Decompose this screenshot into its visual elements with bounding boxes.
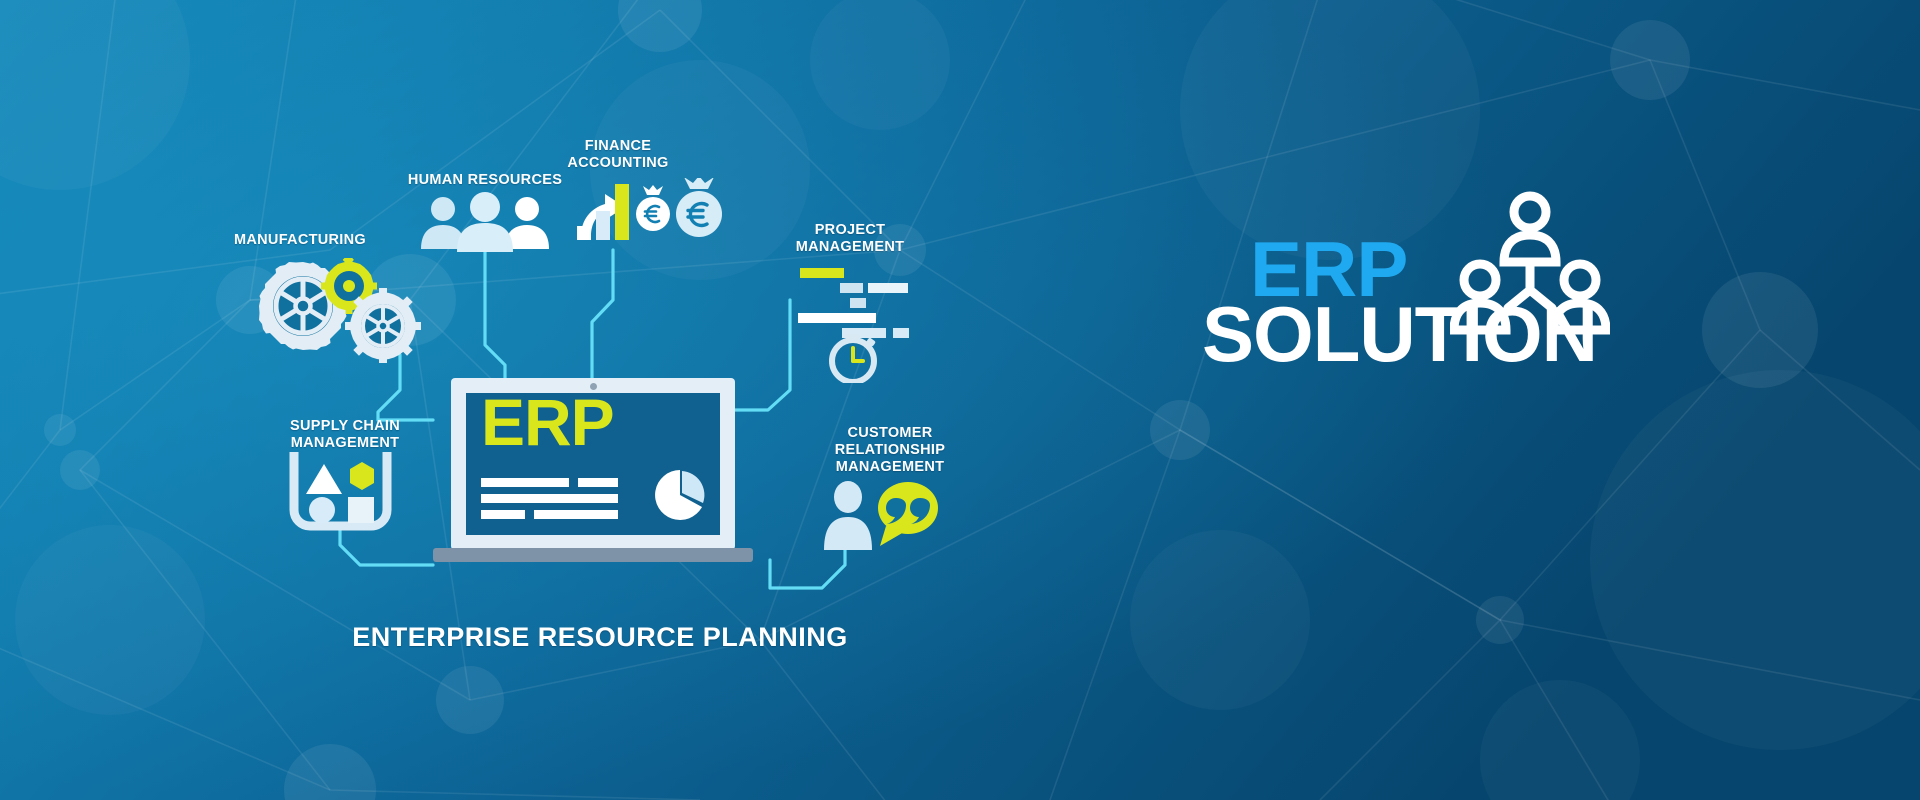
webcam-dot	[590, 383, 597, 390]
gears-icon	[255, 258, 430, 363]
label-project-management: PROJECT MANAGEMENT	[760, 222, 940, 256]
erp-diagram: MANUFACTURING	[0, 0, 1030, 800]
brand-lockup: ERP SOLUTION	[1150, 230, 1710, 510]
laptop-screen: ERP	[466, 393, 720, 535]
screen-text-line	[481, 494, 618, 503]
label-finance-accounting: FINANCE ACCOUNTING	[538, 138, 698, 172]
screen-text-line	[481, 478, 569, 487]
screen-text-line	[534, 510, 618, 519]
page-title-caption: ENTERPRISE RESOURCE PLANNING	[240, 622, 960, 654]
laptop-base	[433, 548, 753, 562]
label-supply-chain-management: SUPPLY CHAIN MANAGEMENT	[255, 418, 435, 452]
team-network-icon	[1450, 190, 1610, 335]
laptop-lid: ERP	[451, 378, 735, 550]
label-manufacturing: MANUFACTURING	[210, 232, 390, 249]
screen-text-line	[481, 510, 525, 519]
label-human-resources: HUMAN RESOURCES	[385, 172, 585, 189]
banner-background: MANUFACTURING	[0, 0, 1920, 800]
label-customer-relationship-management: CUSTOMER RELATIONSHIP MANAGEMENT	[795, 425, 985, 476]
people-group-icon	[415, 192, 555, 252]
pie-chart-icon	[654, 469, 706, 521]
gantt-stopwatch-icon	[798, 268, 933, 383]
screen-text-line	[578, 478, 618, 487]
shapes-basket-icon	[288, 452, 393, 534]
laptop-erp-screen: ERP	[433, 378, 753, 578]
bar-chart-money-icon	[575, 178, 735, 250]
person-speech-bubble-icon	[820, 480, 940, 550]
erp-screen-word: ERP	[481, 393, 614, 455]
